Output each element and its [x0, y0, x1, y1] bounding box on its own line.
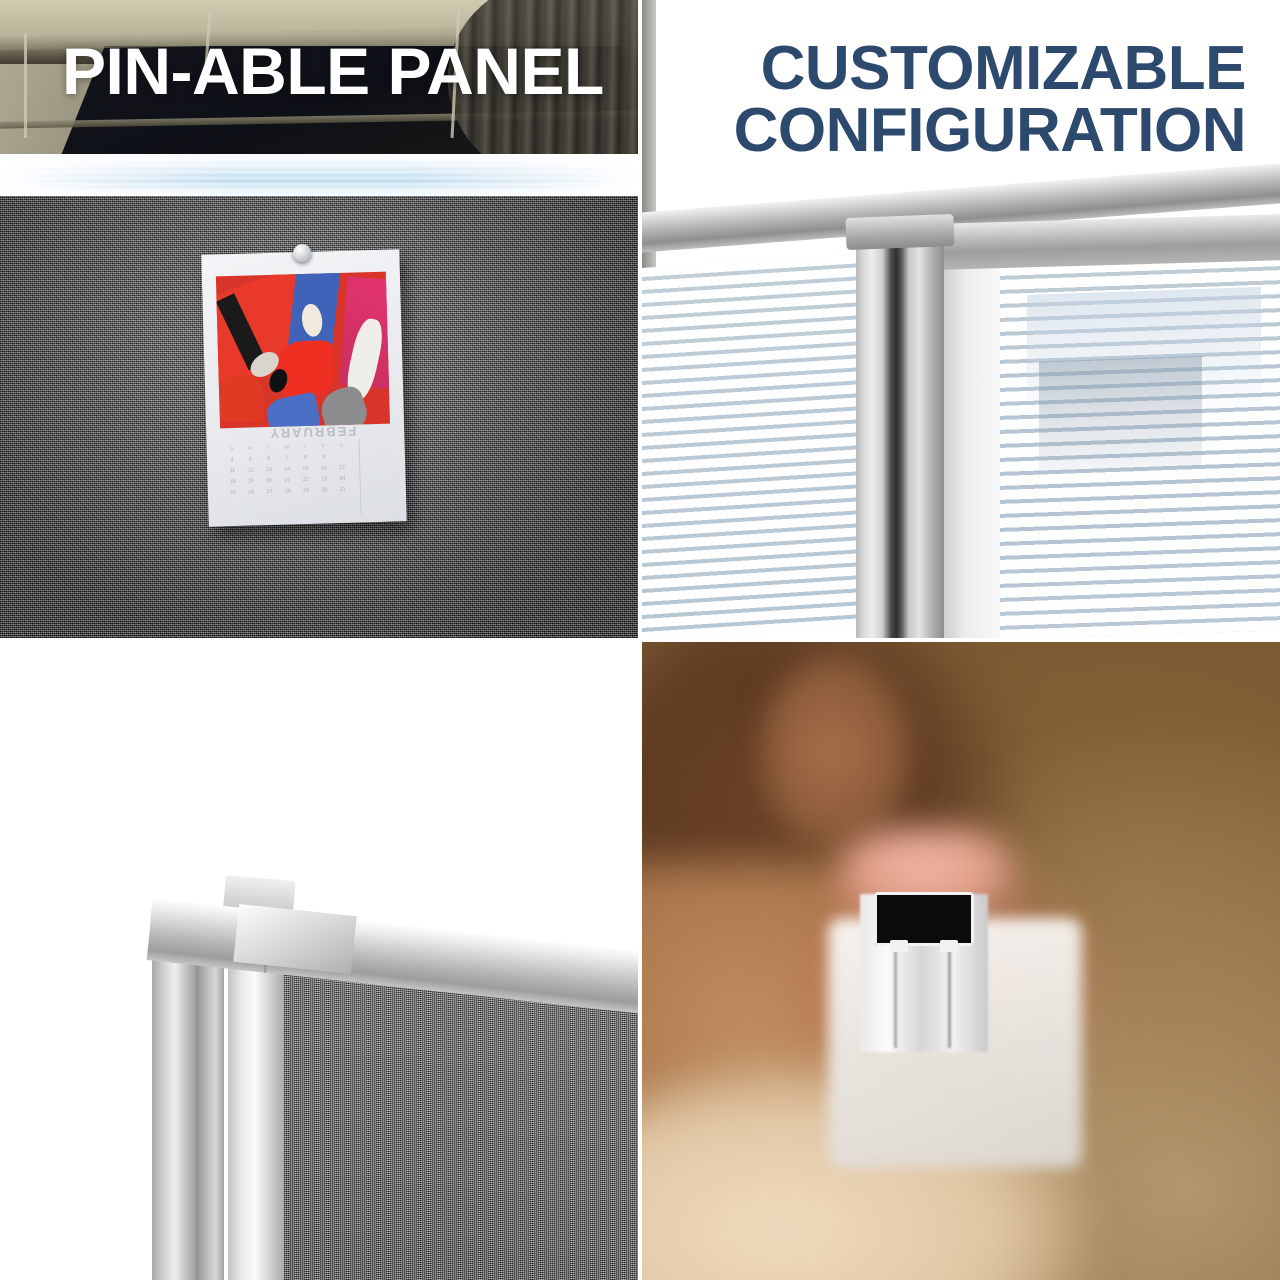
- calendar-day: [333, 452, 352, 464]
- calendar-dow: T: [259, 443, 278, 455]
- calendar-day: 22: [297, 475, 316, 487]
- calendar-day: 4: [223, 455, 242, 467]
- calendar-day: 26: [242, 487, 261, 499]
- post-shadow: [944, 252, 1000, 638]
- pinned-calendar: S M T W T F S 4 5 6 7 8 9 11 12 13 14 15…: [201, 249, 407, 526]
- caption-pin-able-panel: PIN-ABLE PANEL: [62, 38, 604, 104]
- calendar-day: 11: [223, 466, 242, 478]
- aluminum-post-rear: [152, 942, 196, 1280]
- panel-toolless-assembly: TOOLLESS ASSEMBLY: [642, 642, 1280, 1280]
- panel-customizable-configuration: CUSTOMIZABLE CONFIGURATION: [642, 0, 1280, 638]
- calendar-day: 30: [315, 485, 334, 497]
- calendar-dow: S: [332, 441, 351, 453]
- frame-corner-joint: [233, 904, 356, 974]
- calendar-day: 27: [260, 487, 279, 499]
- calendar-day: 29: [297, 486, 316, 498]
- calendar-day: 9: [314, 452, 333, 464]
- aluminum-post-middle: [196, 934, 224, 1280]
- calendar-divider: [358, 438, 361, 514]
- feature-collage: S M T W T F S 4 5 6 7 8 9 11 12 13 14 15…: [0, 0, 1280, 1280]
- extrusion-slot: [874, 892, 974, 946]
- blurred-ear: [762, 652, 912, 852]
- post-cap: [845, 214, 954, 250]
- calendar-day: 14: [278, 464, 297, 476]
- window-blinds-right: [998, 256, 1280, 638]
- calendar-day: 17: [333, 463, 352, 475]
- calendar-day: 15: [296, 464, 315, 476]
- calendar-day: 25: [224, 488, 243, 500]
- calendar-day: 20: [260, 476, 279, 488]
- extrusion-groove: [894, 942, 897, 1048]
- calendar-artwork: [216, 272, 390, 429]
- calendar-day: 31: [333, 485, 352, 497]
- aluminum-corner-post: [856, 244, 944, 638]
- extrusion-groove: [948, 942, 951, 1048]
- calendar-dow: S: [223, 444, 242, 456]
- calendar-month-label: FEBRUARY: [282, 419, 357, 441]
- calendar-dow: W: [277, 442, 296, 454]
- calendar-day: 8: [296, 453, 315, 465]
- calendar-dow: M: [241, 443, 260, 455]
- calendar-day: 23: [315, 474, 334, 486]
- glass-fade-right: [408, 154, 638, 198]
- slot-notch-left: [890, 940, 908, 952]
- calendar-day: 16: [315, 463, 334, 475]
- calendar-date-grid: S M T W T F S 4 5 6 7 8 9 11 12 13 14 15…: [223, 441, 353, 517]
- calendar-day: 21: [278, 475, 297, 487]
- calendar-day: 13: [260, 465, 279, 477]
- calendar-day: 18: [223, 477, 242, 489]
- glass-topper-band: [0, 154, 638, 198]
- calendar-dow: F: [314, 441, 333, 453]
- calendar-day: 7: [278, 453, 297, 465]
- building-through-blinds: [1039, 356, 1203, 474]
- hanger-rod: [24, 34, 27, 138]
- calendar-day: 6: [259, 454, 278, 466]
- calendar-day: 5: [241, 454, 260, 466]
- calendar-dow: T: [296, 442, 315, 454]
- window-blinds-left: [642, 253, 874, 638]
- caption-customizable-configuration: CUSTOMIZABLE CONFIGURATION: [734, 38, 1246, 162]
- glass-fade-left: [0, 154, 230, 198]
- slot-notch-right: [940, 940, 958, 952]
- push-pin-icon: [293, 244, 311, 262]
- panel-light-aircraft-aluminum-frame: LIGHT AIRCRAFT ALUMINUM FRAME: [0, 642, 638, 1280]
- calendar-day: 24: [333, 474, 352, 486]
- panel-pin-able-panel: S M T W T F S 4 5 6 7 8 9 11 12 13 14 15…: [0, 0, 638, 638]
- calendar-day: 12: [241, 465, 260, 477]
- calendar-day: 28: [279, 486, 298, 498]
- calendar-day: 19: [242, 476, 261, 488]
